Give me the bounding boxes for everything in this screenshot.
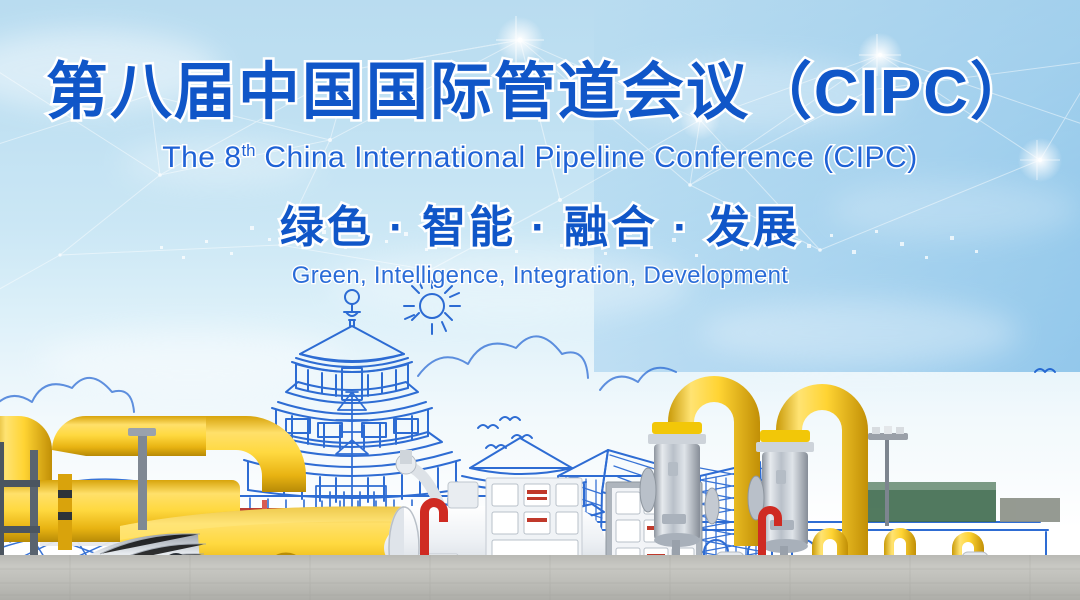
conference-banner: 第八届中国国际管道会议（CIPC） The 8th China Internat… xyxy=(0,0,1080,600)
banner-text-layer: 第八届中国国际管道会议（CIPC） The 8th China Internat… xyxy=(0,0,1080,600)
title-en-prefix: The 8 xyxy=(162,141,241,174)
title-en-rest: China International Pipeline Conference … xyxy=(256,141,918,174)
tagline-english: Green, Intelligence, Integration, Develo… xyxy=(0,264,1080,288)
conference-title-chinese: 第八届中国国际管道会议（CIPC） xyxy=(0,62,1080,124)
conference-title-english: The 8th China International Pipeline Con… xyxy=(0,143,1080,173)
ordinal-suffix: th xyxy=(242,141,256,160)
tagline-chinese: 绿色 · 智能 · 融合 · 发展 xyxy=(0,203,1080,254)
